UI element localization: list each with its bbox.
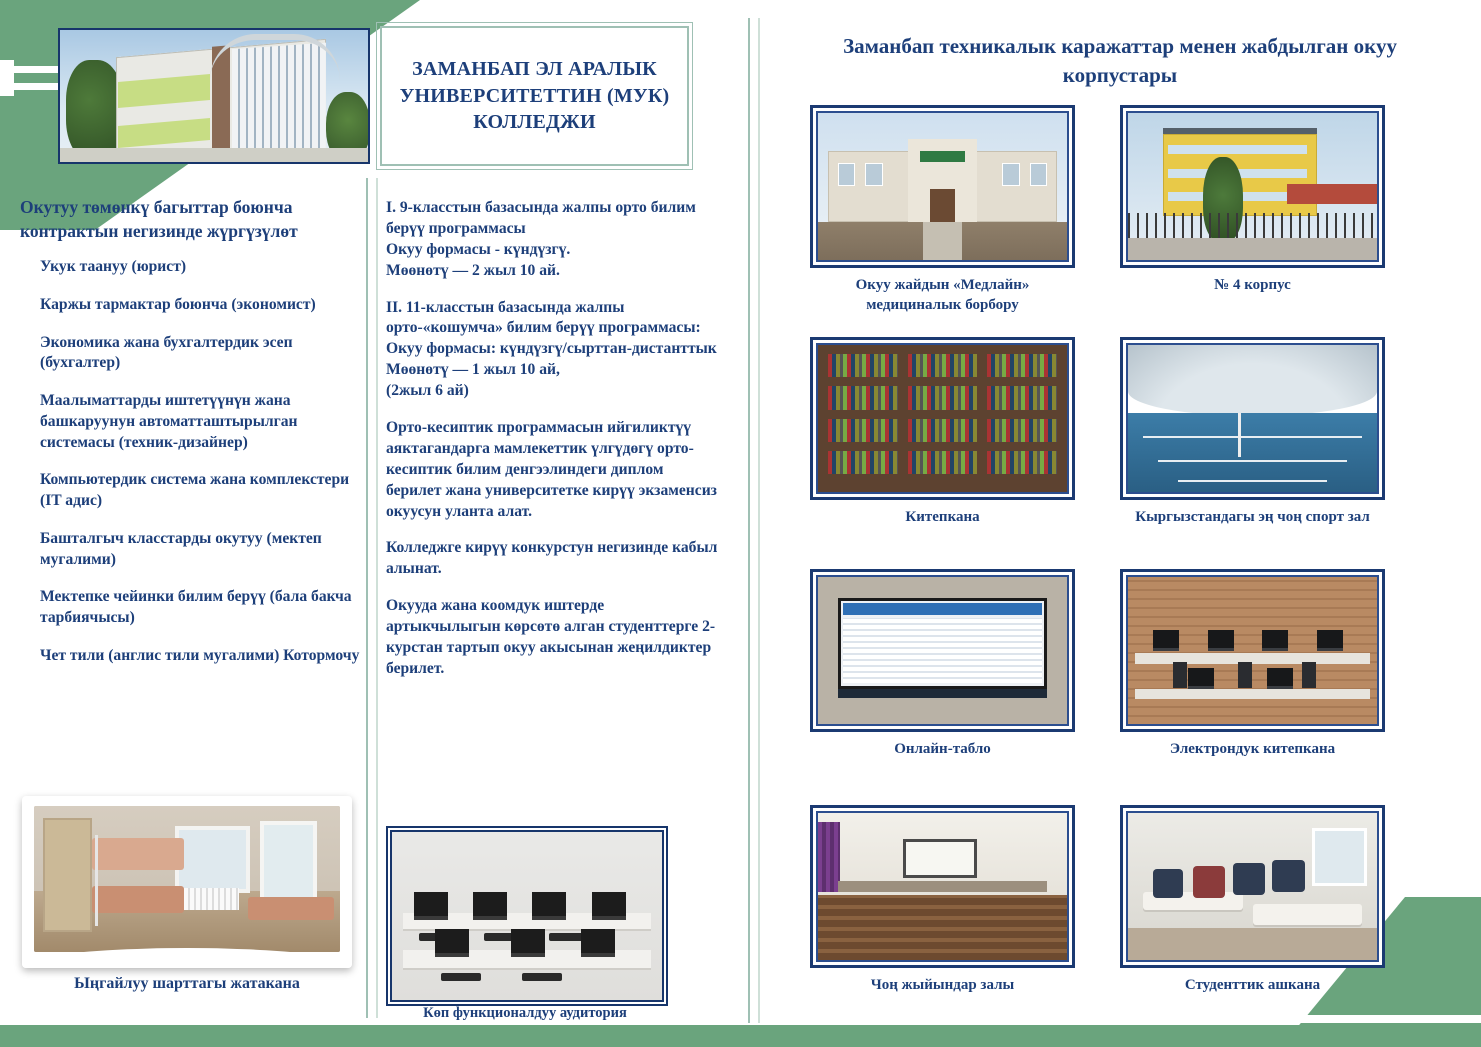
dormitory-caption: Ыңгайлуу шарттагы жатакана <box>22 975 352 993</box>
right-panel: Заманбап техникалык каражаттар менен жаб… <box>760 0 1481 1047</box>
facility-cell: Китепкана <box>810 337 1075 528</box>
facility-caption: Электрондук китепкана <box>1120 740 1385 760</box>
facility-cell: Электрондук китепкана <box>1120 569 1385 760</box>
list-item: Маалыматтарды иштетүүнүн жана башкарууну… <box>40 391 360 453</box>
facilities-title: Заманбап техникалык каражаттар менен жаб… <box>790 32 1450 89</box>
dormitory-photo <box>22 796 352 968</box>
brochure-page: ЗАМАНБАП ЭЛ АРАЛЫК УНИВЕРСИТЕТТИН (МУК) … <box>0 0 1481 1047</box>
list-item: Чет тили (англис тили мугалими) Котормоч… <box>40 646 360 667</box>
programs-list: Укук таануу (юрист) Каржы тармактар боюн… <box>20 257 360 666</box>
list-item: Мектепке чейинки билим берүү (бала бакча… <box>40 587 360 628</box>
page-title: ЗАМАНБАП ЭЛ АРАЛЫК УНИВЕРСИТЕТТИН (МУК) … <box>382 56 687 135</box>
admission-paragraph: Колледжге кирүү конкурстун негизинде каб… <box>386 538 721 580</box>
facility-cell: Окуу жайдын «Медлайн» медициналык борбор… <box>810 105 1075 315</box>
facility-caption: Кыргызстандагы эң чоң спорт зал <box>1120 508 1385 528</box>
facility-cell: Кыргызстандагы эң чоң спорт зал <box>1120 337 1385 528</box>
column-divider-1 <box>366 178 378 1018</box>
programs-column: Окутуу төмөнкү багыттар боюнча контракты… <box>20 196 360 684</box>
list-item: Укук таануу (юрист) <box>40 257 360 278</box>
left-panel: ЗАМАНБАП ЭЛ АРАЛЫК УНИВЕРСИТЕТТИН (МУК) … <box>0 0 760 1047</box>
admission-paragraph: II. 11-класстын базасында жалпы орто-«ко… <box>386 298 721 402</box>
admission-paragraph: I. 9-класстын базасында жалпы орто билим… <box>386 198 721 282</box>
admission-info-column: I. 9-класстын базасында жалпы орто билим… <box>386 198 721 696</box>
facility-cell: Чоң жыйындар залы <box>810 805 1075 996</box>
column-divider-2 <box>748 18 760 1023</box>
list-item: Каржы тармактар боюнча (экономист) <box>40 295 360 316</box>
admission-paragraph: Окууда жана коомдук иштерде артыкчылыгын… <box>386 596 721 680</box>
facility-cell: Студенттик ашкана <box>1120 805 1385 996</box>
programs-lead-text: Окутуу төмөнкү багыттар боюнча контракты… <box>20 196 360 243</box>
facility-cell: № 4 корпус <box>1120 105 1385 296</box>
auditorium-caption: Көп функционалдуу аудитория <box>380 1005 670 1022</box>
list-item: Экономика жана бухгалтердик эсеп (бухгал… <box>40 333 360 374</box>
college-building-photo <box>58 28 370 164</box>
facility-caption: № 4 корпус <box>1120 276 1385 296</box>
facility-caption: Чоң жыйындар залы <box>810 976 1075 996</box>
facility-caption: Окуу жайдын «Медлайн» медициналык борбор… <box>810 276 1075 315</box>
facility-caption: Онлайн-табло <box>810 740 1075 760</box>
college-title-box: ЗАМАНБАП ЭЛ АРАЛЫК УНИВЕРСИТЕТТИН (МУК) … <box>380 26 689 166</box>
multifunctional-auditorium-photo <box>390 830 664 1002</box>
list-item: Компьютердик система жана комплекстери (… <box>40 470 360 511</box>
facility-caption: Китепкана <box>810 508 1075 528</box>
admission-paragraph: Орто-кесиптик программасын ийгиликтүү ая… <box>386 418 721 522</box>
list-item: Башталгыч класстарды окутуу (мектеп муга… <box>40 529 360 570</box>
facility-cell: Онлайн-табло <box>810 569 1075 760</box>
facility-caption: Студенттик ашкана <box>1120 976 1385 996</box>
